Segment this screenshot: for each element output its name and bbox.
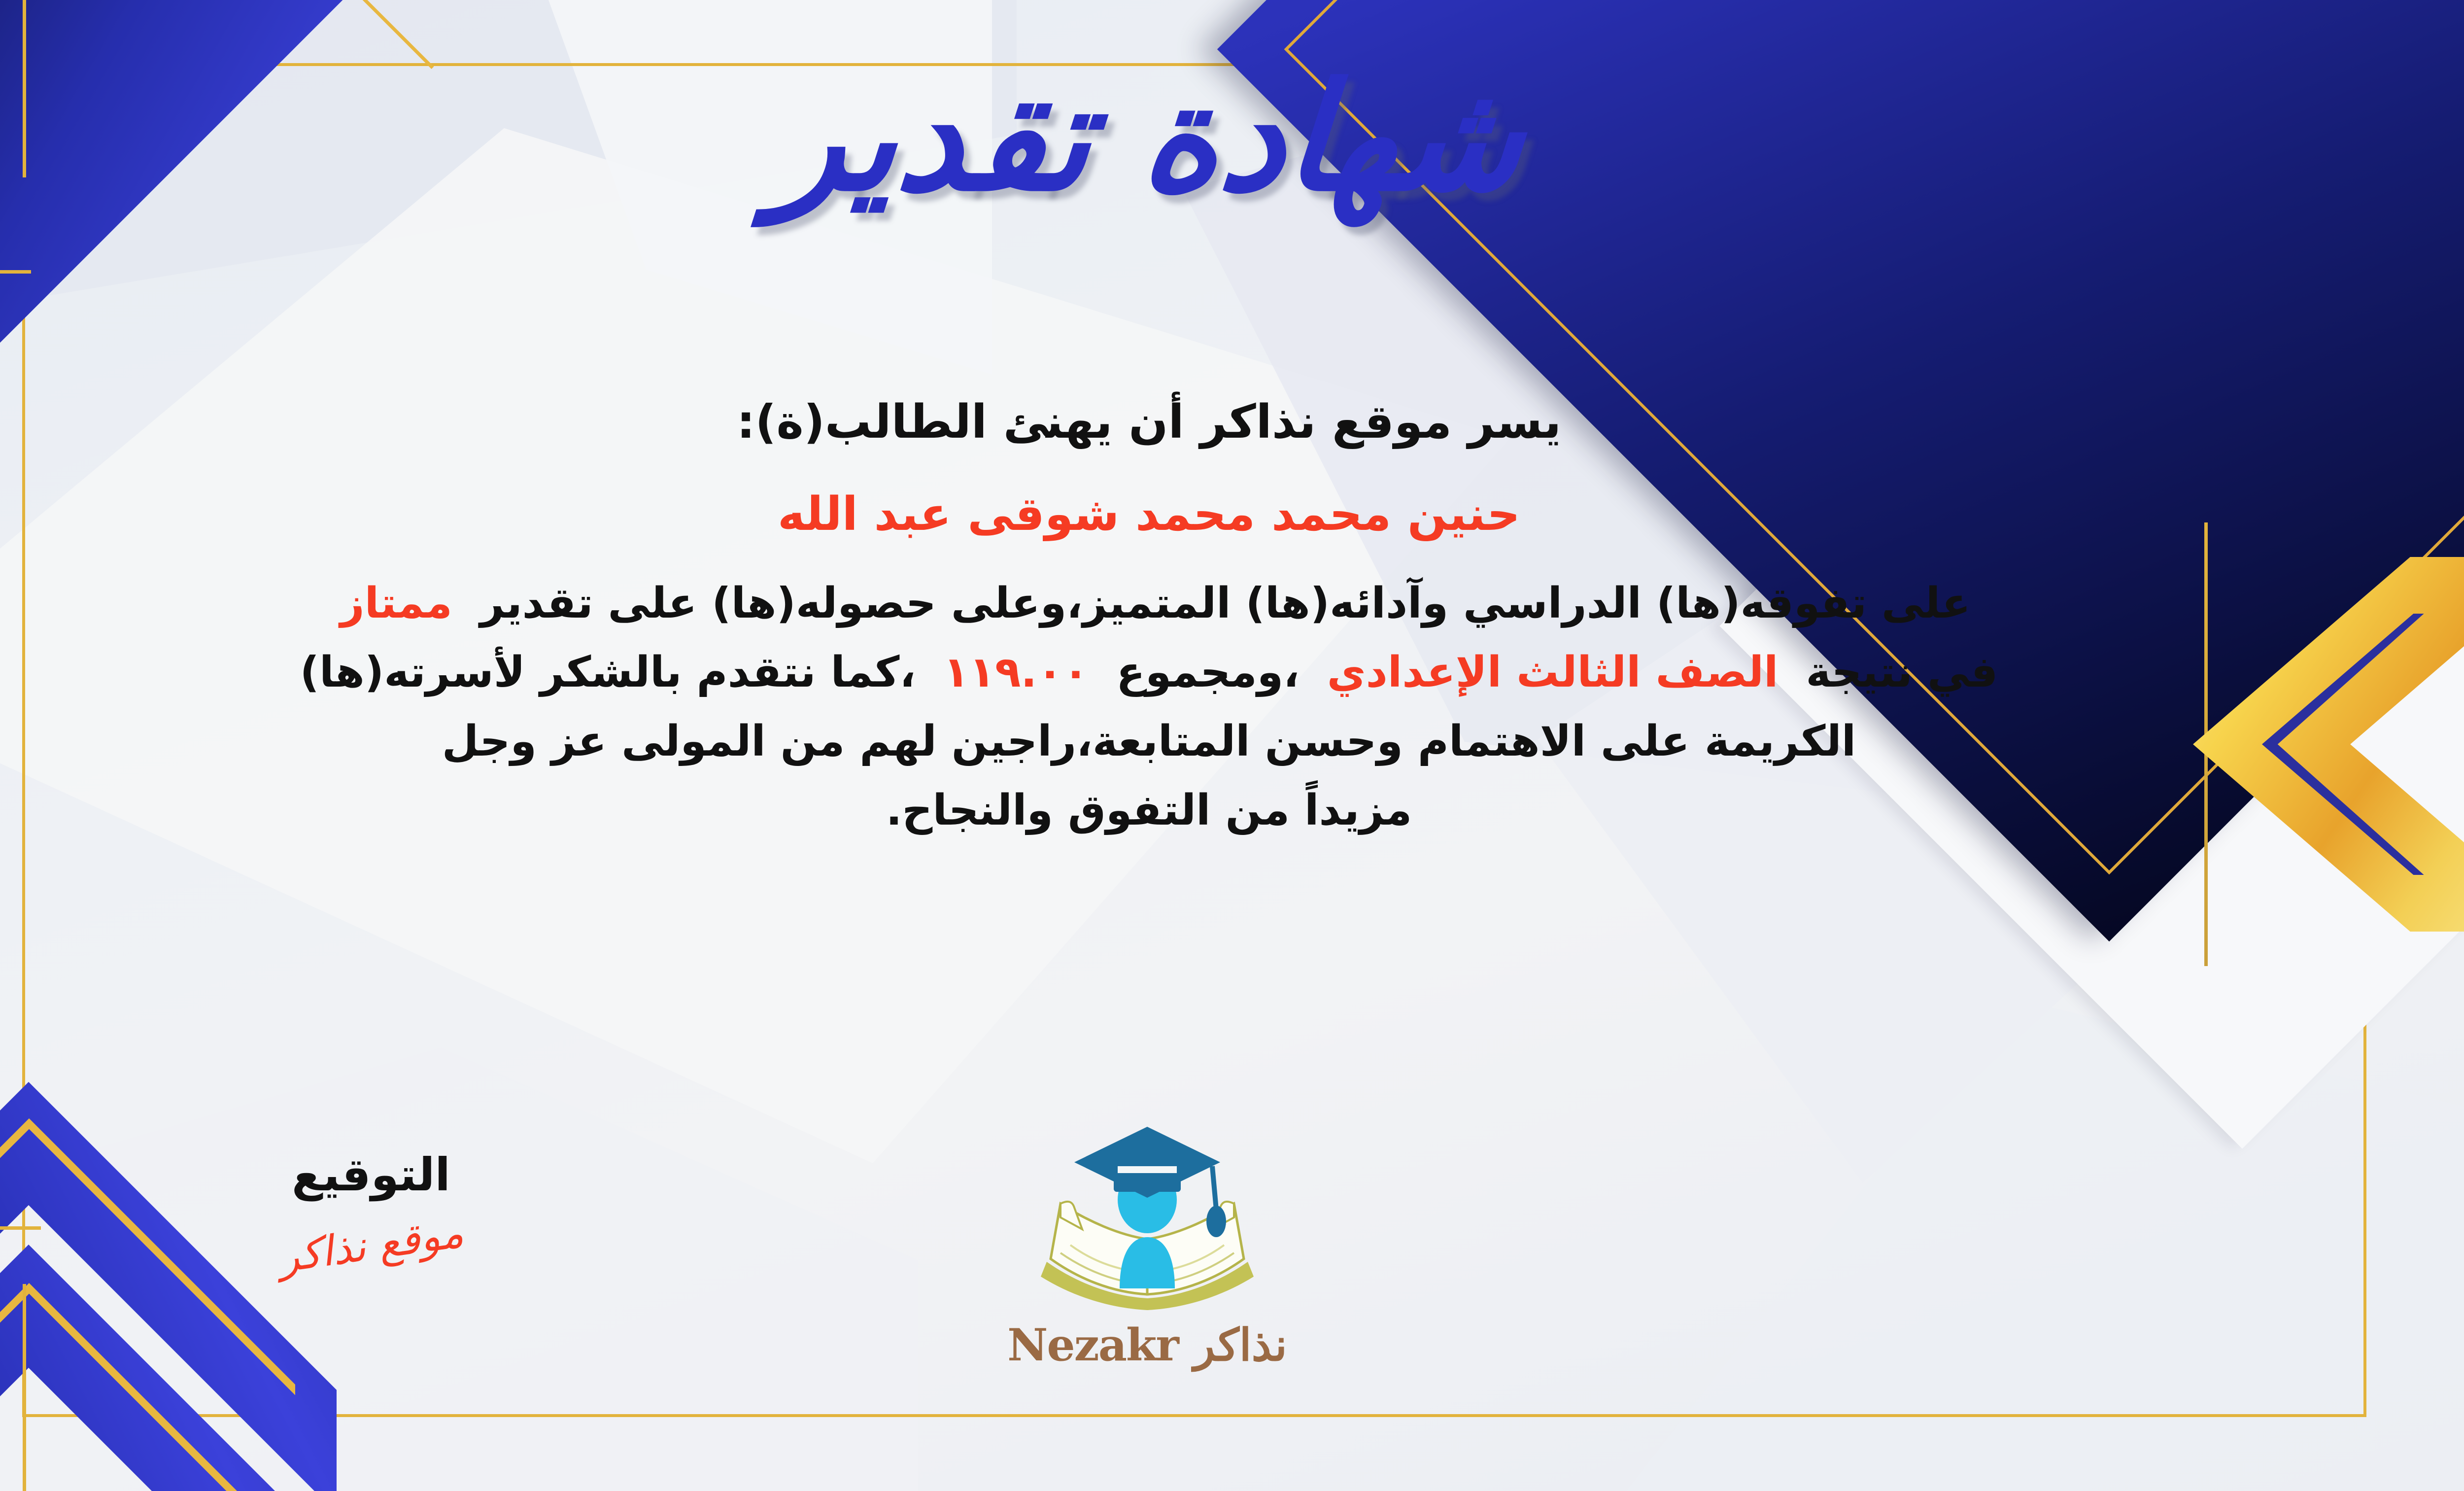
intro-line: يسر موقع نذاكر أن يهنئ الطالب(ة): [0, 389, 2316, 455]
closing-wish-line: مزيداً من التفوق والنجاح. [0, 780, 2316, 840]
certificate-canvas: شهادة تقدير يسر موقع نذاكر أن يهنئ الطال… [0, 0, 2464, 1491]
grade-rating-badge: ممتاز [327, 579, 465, 628]
certificate-title: شهادة تقدير [0, 64, 2464, 212]
family-thanks-line: الكريمة على الاهتمام وحسن المتابعة،راجين… [0, 711, 2316, 771]
certificate-content: شهادة تقدير يسر موقع نذاكر أن يهنئ الطال… [0, 0, 2464, 1491]
brand-logo-text: نذاكر Nezakr [913, 1319, 1381, 1371]
signature-block: التوقيع موقع نذاكر [199, 1148, 544, 1269]
grade-and-total-line: في نتيجة الصف الثالث الإعدادي ،ومجموع ١١… [0, 642, 2316, 702]
certificate-body: يسر موقع نذاكر أن يهنئ الطالب(ة): حنين م… [0, 389, 2316, 851]
result-prefix-text: في نتيجة [1806, 648, 1998, 697]
brand-logo-block: نذاكر Nezakr [913, 1119, 1381, 1371]
student-name: حنين محمد محمد شوقى عبد الله [0, 482, 2316, 547]
achievement-line: على تفوقه(ها) الدراسي وآدائه(ها) المتميز… [0, 573, 2316, 633]
total-prefix-text: ،ومجموع [1116, 648, 1300, 697]
signature-mark: موقع نذاكر [275, 1208, 466, 1282]
total-score-badge: ١١٩.٠٠ [930, 648, 1101, 697]
graduation-book-logo-icon [1009, 1119, 1285, 1316]
thanks-prefix-text: ،كما نتقدم بالشكر لأسرته(ها) [300, 648, 916, 697]
grade-level-badge: الصف الثالث الإعدادي [1314, 648, 1791, 697]
signature-label: التوقيع [199, 1148, 544, 1201]
achievement-text: على تفوقه(ها) الدراسي وآدائه(ها) المتميز… [480, 579, 1971, 628]
